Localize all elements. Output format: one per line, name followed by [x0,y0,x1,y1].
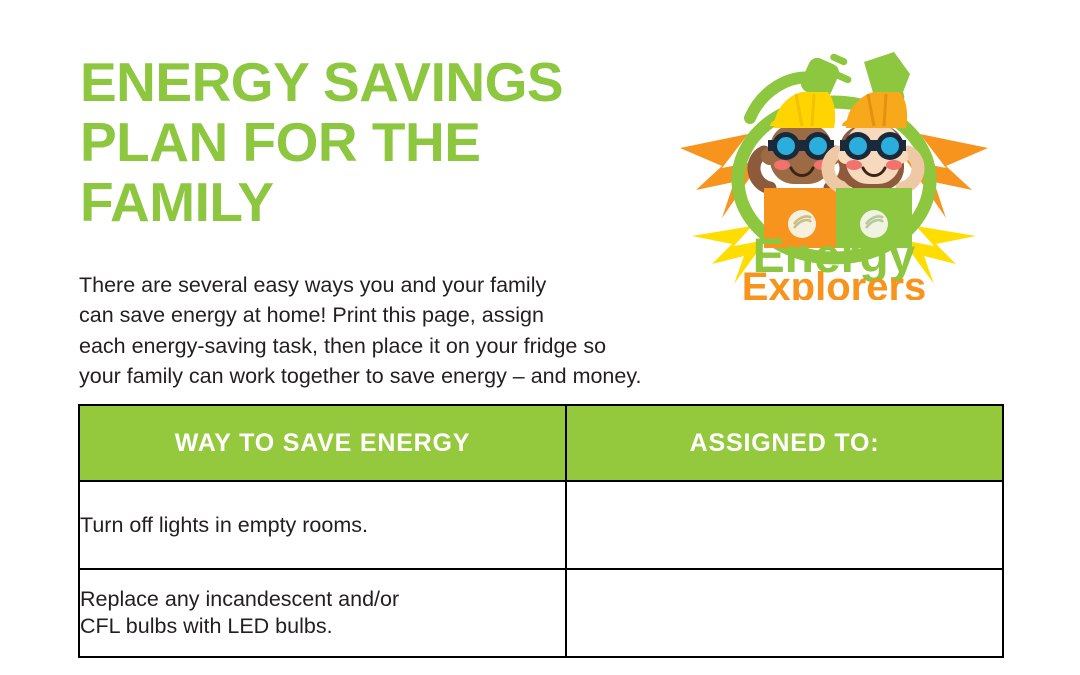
child-character-orange-hardhat [828,92,918,248]
page-title: ENERGY SAVINGS PLAN FOR THE FAMILY [80,52,660,232]
header-zone: ENERGY SAVINGS PLAN FOR THE FAMILY There… [0,0,1080,390]
table-row: Replace any incandescent and/or CFL bulb… [79,569,1003,657]
logo-word-explorers: Explorers [742,265,927,300]
column-header-assigned-to: ASSIGNED TO: [566,405,1003,481]
task-cell: Replace any incandescent and/or CFL bulb… [79,569,566,657]
assigned-to-cell[interactable] [566,481,1003,569]
page-root: ENERGY SAVINGS PLAN FOR THE FAMILY There… [0,0,1080,675]
task-cell: Turn off lights in empty rooms. [79,481,566,569]
energy-explorers-logo: Energy Explorers [678,48,990,300]
energy-savings-table: WAY TO SAVE ENERGY ASSIGNED TO: Turn off… [78,404,1004,658]
table-row: Turn off lights in empty rooms. [79,481,1003,569]
energy-savings-table-wrap: WAY TO SAVE ENERGY ASSIGNED TO: Turn off… [78,404,1002,658]
table-header-row: WAY TO SAVE ENERGY ASSIGNED TO: [79,405,1003,481]
assigned-to-cell[interactable] [566,569,1003,657]
column-header-way-to-save-energy: WAY TO SAVE ENERGY [79,405,566,481]
